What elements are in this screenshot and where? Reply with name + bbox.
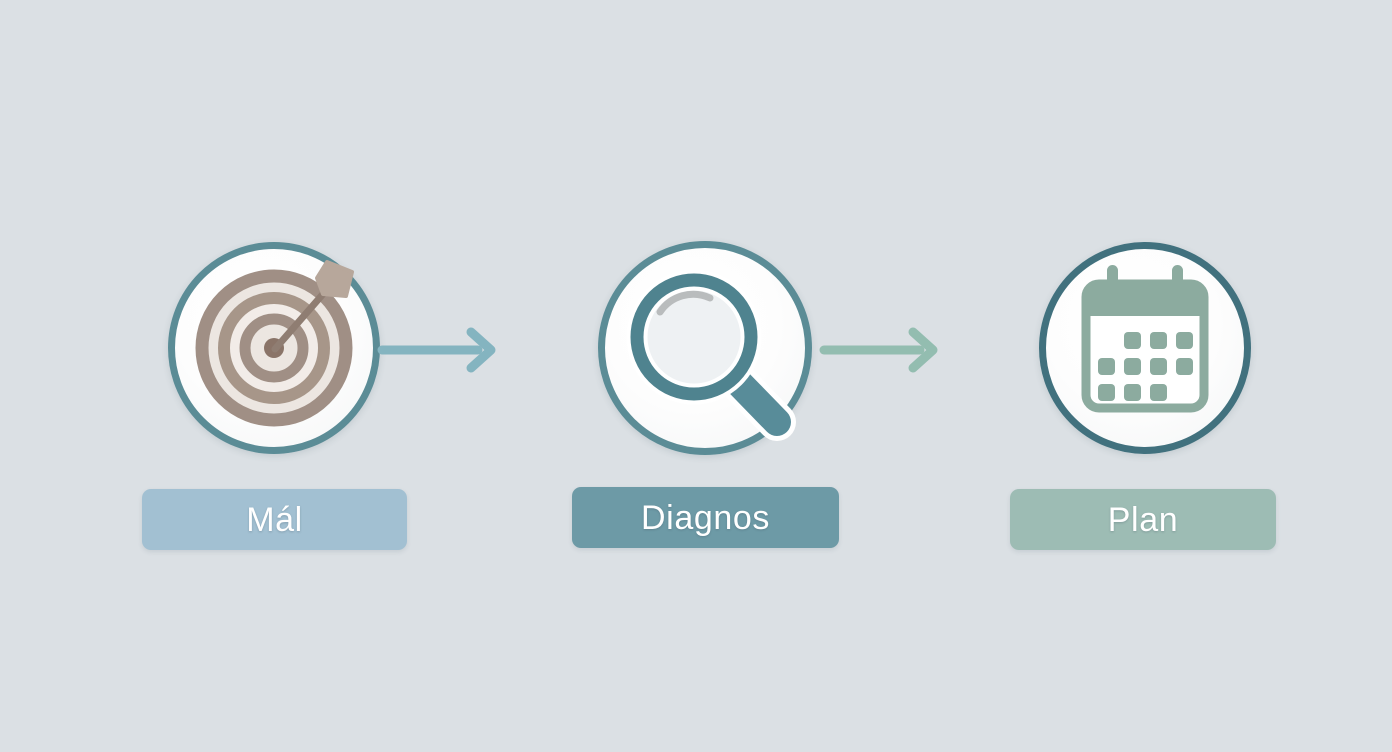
connector-arrow-1 bbox=[378, 320, 508, 380]
step-label-plan[interactable]: Plan bbox=[1010, 489, 1276, 550]
step-label-text: Mál bbox=[246, 503, 303, 537]
icon-container-plan bbox=[995, 232, 1295, 464]
process-step-diagnos[interactable] bbox=[555, 232, 855, 464]
process-step-plan[interactable] bbox=[995, 232, 1295, 464]
step-label-text: Diagnos bbox=[641, 501, 770, 535]
diagram-canvas: Mál Diagnos Plan bbox=[0, 0, 1392, 752]
process-flow-row: Mál Diagnos Plan bbox=[0, 0, 1392, 752]
connector-arrow-2 bbox=[820, 320, 950, 380]
step-label-text: Plan bbox=[1108, 503, 1178, 537]
magnifying-glass-icon bbox=[555, 232, 855, 464]
calendar-icon bbox=[995, 232, 1295, 464]
icon-container-diagnos bbox=[555, 232, 855, 464]
step-label-mal[interactable]: Mál bbox=[142, 489, 407, 550]
step-label-diagnos[interactable]: Diagnos bbox=[572, 487, 839, 548]
